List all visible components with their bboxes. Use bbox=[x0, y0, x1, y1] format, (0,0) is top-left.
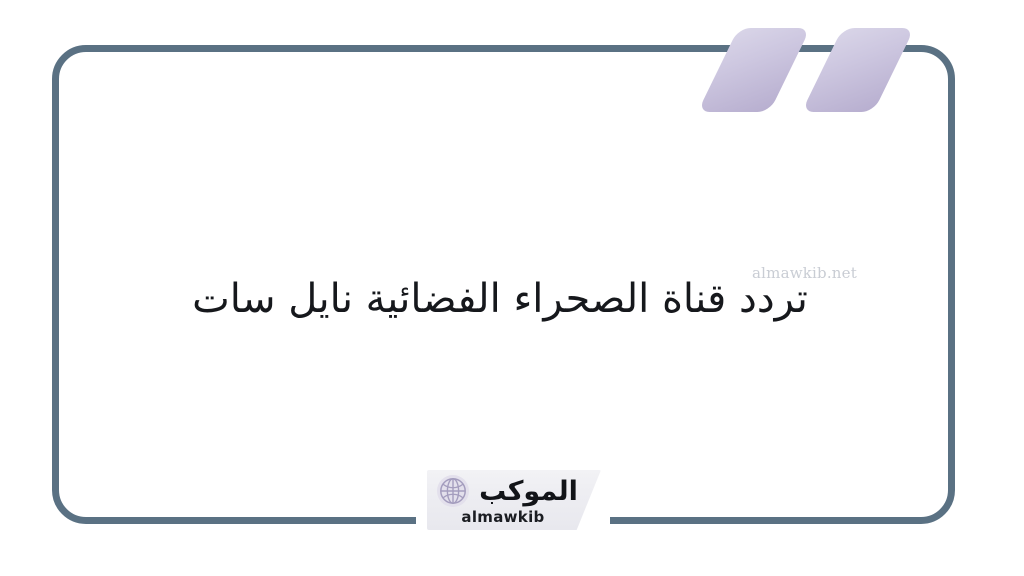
double-slash-quote-icon bbox=[700, 28, 950, 112]
logo-latin-wordmark: almawkib bbox=[427, 508, 579, 526]
slash-mark-first bbox=[698, 28, 811, 112]
brand-logo: الموكب almawkib bbox=[427, 470, 601, 530]
site-watermark: almawkib.net bbox=[752, 264, 857, 282]
slash-mark-second bbox=[802, 28, 915, 112]
page-canvas: تردد قناة الصحراء الفضائية نايل سات alma… bbox=[0, 0, 1024, 576]
globe-icon bbox=[436, 474, 470, 508]
logo-primary-row: الموكب bbox=[427, 472, 587, 510]
logo-arabic-wordmark: الموكب bbox=[479, 478, 578, 505]
